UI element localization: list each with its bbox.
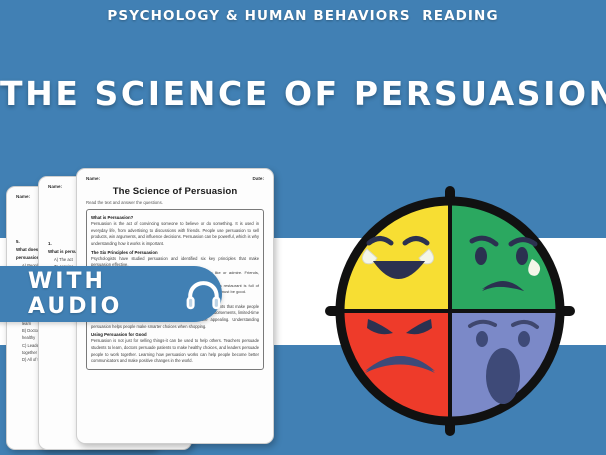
emotion-wheel-graphic: [325, 186, 575, 436]
section-body: Persuasion is the act of convincing some…: [91, 221, 259, 248]
name-label: Name:: [86, 176, 100, 181]
name-date-row: Name: Date:: [86, 176, 264, 181]
name-label: Name:: [48, 184, 62, 189]
section-body: Persuasion is not just for selling thing…: [91, 338, 259, 365]
with-audio-label: WITH AUDIO: [28, 269, 175, 319]
page-title: THE SCIENCE OF PERSUASION: [0, 74, 606, 113]
section-heading: Using Persuasion for Good: [91, 332, 259, 337]
date-label: Date:: [253, 176, 265, 181]
worksheet-title: The Science of Persuasion: [86, 186, 264, 197]
poster-canvas: PSYCHOLOGY & HUMAN BEHAVIORS READING THE…: [0, 0, 606, 455]
section-heading: The Six Principles of Persuasion: [91, 250, 259, 255]
headphones-icon: [185, 274, 222, 314]
worksheet-instruction: Read the text and answer the questions.: [86, 200, 264, 205]
with-audio-badge[interactable]: WITH AUDIO: [0, 266, 222, 322]
name-label: Name:: [16, 194, 30, 199]
kicker-subtitle: PSYCHOLOGY & HUMAN BEHAVIORS READING: [0, 8, 606, 24]
section-heading: What is Persuasion?: [91, 215, 259, 220]
